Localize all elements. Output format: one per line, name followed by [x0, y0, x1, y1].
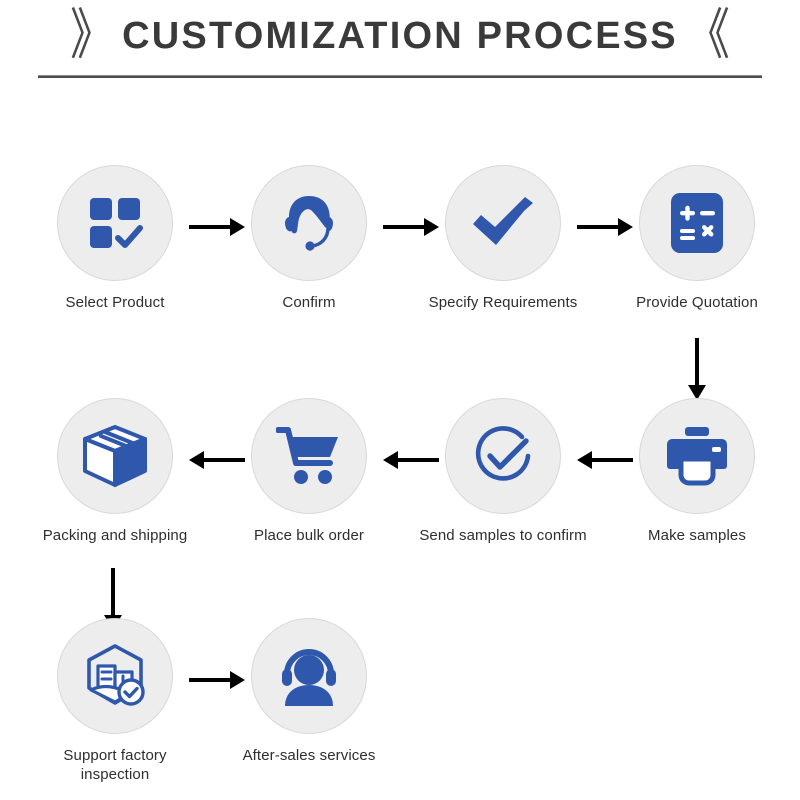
process-step-support-factory-inspection[interactable]: Support factory inspection	[40, 618, 190, 784]
step-label: Packing and shipping	[10, 526, 220, 545]
step-label: Make samples	[608, 526, 786, 545]
step-icon-circle	[251, 618, 367, 734]
grid-check-icon	[84, 192, 146, 254]
checkmark-icon	[469, 191, 537, 255]
step-icon-circle	[57, 398, 173, 514]
step-icon-circle	[251, 165, 367, 281]
step-icon-circle	[251, 398, 367, 514]
package-box-icon	[81, 423, 149, 489]
process-step-after-sales-services[interactable]: After-sales services	[234, 618, 384, 765]
chevron-right-decoration-icon: 》	[70, 9, 114, 64]
step-label: Confirm	[234, 293, 384, 312]
support-agent-icon	[276, 190, 342, 256]
step-label: After-sales services	[220, 746, 398, 765]
calculator-icon	[667, 191, 727, 255]
process-step-send-samples-to-confirm[interactable]: Send samples to confirm	[428, 398, 578, 545]
process-step-place-bulk-order[interactable]: Place bulk order	[234, 398, 384, 545]
process-step-packing-and-shipping[interactable]: Packing and shipping	[40, 398, 190, 545]
title-row: 》 CUSTOMIZATION PROCESS 《	[0, 14, 800, 58]
connector-arrow-down	[688, 338, 706, 400]
step-icon-circle	[639, 398, 755, 514]
title-divider	[38, 75, 762, 78]
page-header: 》 CUSTOMIZATION PROCESS 《	[0, 0, 800, 92]
shopping-cart-icon	[276, 425, 342, 487]
process-step-provide-quotation[interactable]: Provide Quotation	[622, 165, 772, 312]
page-title: CUSTOMIZATION PROCESS	[122, 17, 678, 55]
step-icon-circle	[445, 398, 561, 514]
step-label: Provide Quotation	[608, 293, 786, 312]
step-icon-circle	[57, 165, 173, 281]
step-label: Place bulk order	[220, 526, 398, 545]
step-icon-circle	[57, 618, 173, 734]
headset-person-icon	[277, 645, 341, 707]
process-step-specify-requirements[interactable]: Specify Requirements	[428, 165, 578, 312]
process-step-select-product[interactable]: Select Product	[40, 165, 190, 312]
step-icon-circle	[445, 165, 561, 281]
step-label: Send samples to confirm	[398, 526, 608, 545]
step-label: Select Product	[40, 293, 190, 312]
step-icon-circle	[639, 165, 755, 281]
process-step-make-samples[interactable]: Make samples	[622, 398, 772, 545]
check-circle-icon	[470, 423, 536, 489]
printer-icon	[664, 426, 730, 486]
chevron-left-decoration-icon: 《	[686, 9, 730, 64]
step-label: Support factory inspection	[26, 746, 204, 784]
factory-inspection-icon	[81, 642, 149, 710]
process-step-confirm[interactable]: Confirm	[234, 165, 384, 312]
step-label: Specify Requirements	[398, 293, 608, 312]
